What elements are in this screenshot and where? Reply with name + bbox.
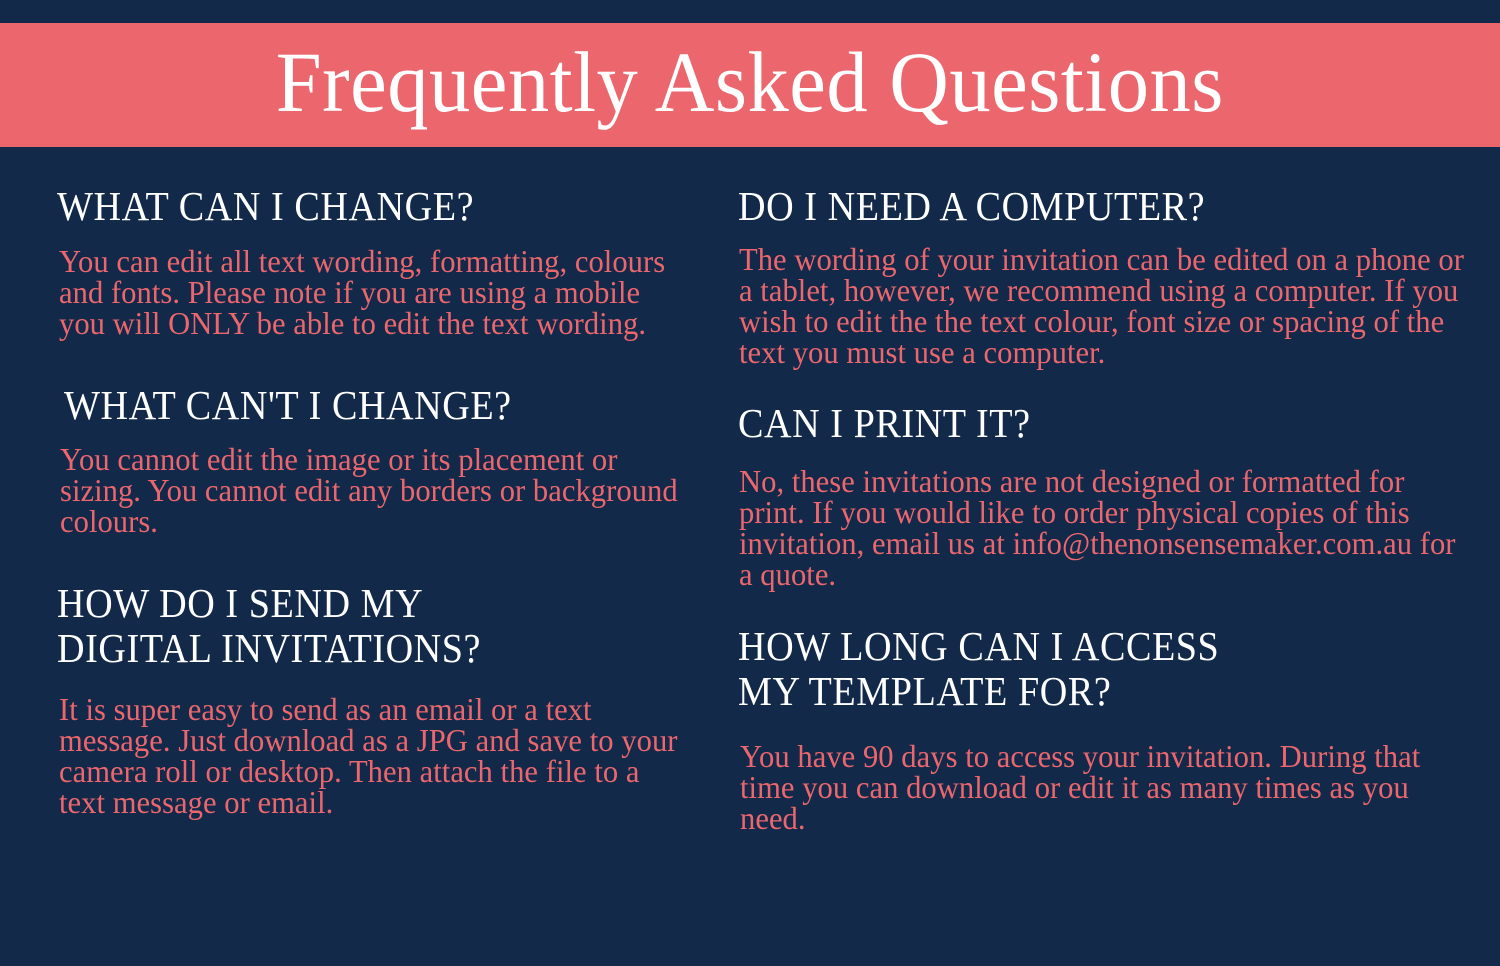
faq-question: HOW LONG CAN I ACCESS MY TEMPLATE FOR? [738,624,1447,714]
faq-item: DO I NEED A COMPUTER? The wording of you… [738,184,1500,368]
faq-item: HOW DO I SEND MY DIGITAL INVITATIONS? It… [57,581,720,818]
faq-answer: It is super easy to send as an email or … [59,694,690,818]
faq-item: WHAT CAN'T I CHANGE? You cannot edit the… [57,383,720,537]
faq-answer: No, these invitations are not designed o… [739,466,1466,590]
faq-question: DO I NEED A COMPUTER? [738,184,1447,229]
page-title: Frequently Asked Questions [276,39,1224,131]
faq-question: WHAT CAN I CHANGE? [57,184,674,229]
faq-question: HOW DO I SEND MY DIGITAL INVITATIONS? [57,581,674,671]
faq-column-left: WHAT CAN I CHANGE? You can edit all text… [0,147,720,966]
faq-column-right: DO I NEED A COMPUTER? The wording of you… [720,147,1500,966]
faq-question: CAN I PRINT IT? [738,401,1447,446]
faq-answer: You can edit all text wording, formattin… [59,246,690,339]
faq-answer: The wording of your invitation can be ed… [739,244,1466,368]
faq-item: WHAT CAN I CHANGE? You can edit all text… [57,184,720,339]
faq-question: WHAT CAN'T I CHANGE? [64,383,674,428]
faq-item: HOW LONG CAN I ACCESS MY TEMPLATE FOR? Y… [738,624,1500,834]
header-banner: Frequently Asked Questions [0,23,1500,147]
faq-columns: WHAT CAN I CHANGE? You can edit all text… [0,147,1500,966]
faq-answer: You have 90 days to access your invitati… [740,741,1466,834]
faq-answer: You cannot edit the image or its placeme… [60,444,690,537]
faq-item: CAN I PRINT IT? No, these invitations ar… [738,401,1500,590]
faq-page: Frequently Asked Questions WHAT CAN I CH… [0,0,1500,966]
